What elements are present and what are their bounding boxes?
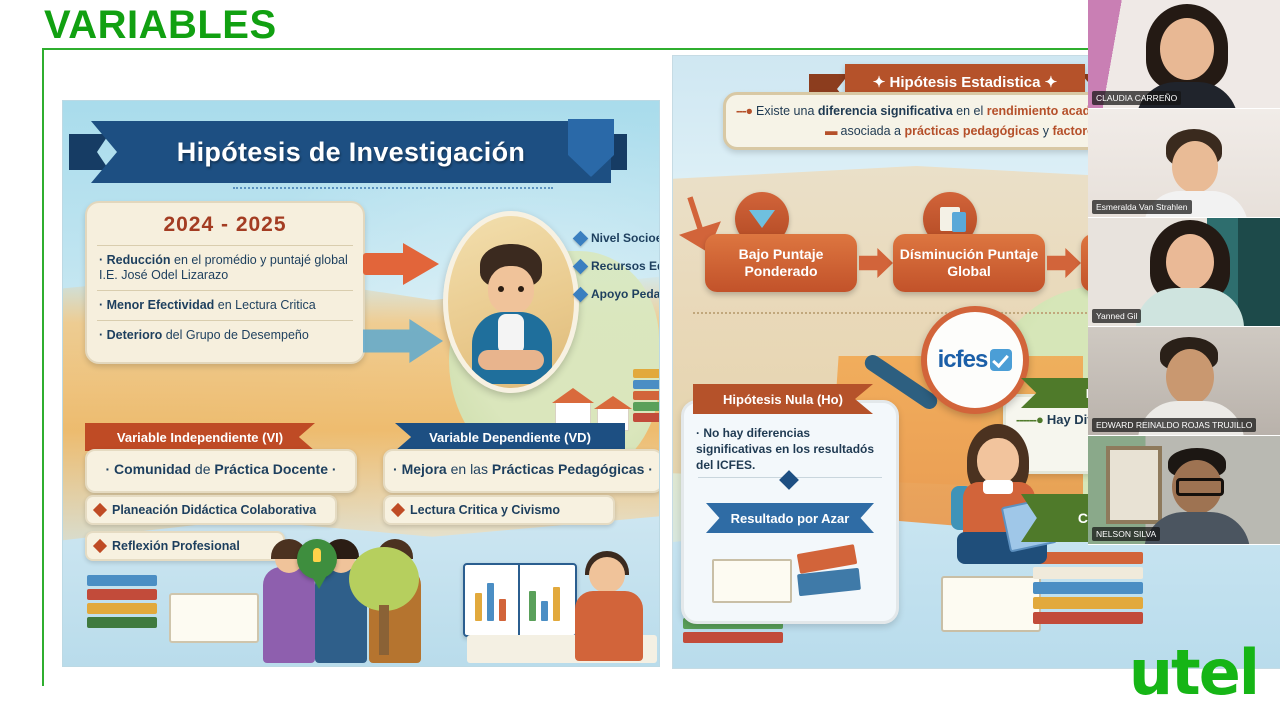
video-participants-panel[interactable]: CLAUDIA CARREÑO Esmeralda Van Strahlen Y…	[1088, 0, 1280, 540]
finding-item-3: · Deterioro del Grupo de Desempeño	[97, 320, 353, 350]
left-banner-title: Hipótesis de Investigación	[177, 137, 525, 168]
vi-item-1: Planeación Didáctica Colaborativa	[85, 495, 337, 525]
vd-title-panel: · Mejora en las Prácticas Pedagógicas ·	[383, 449, 660, 493]
left-banner: Hipótesis de Investigación	[91, 121, 611, 183]
participant-tile[interactable]: EDWARD REINALDO ROJAS TRUJILLO	[1088, 327, 1280, 436]
slide-frame-left-border	[42, 48, 44, 686]
factor-item: Apoyo Pedagógico	[575, 287, 660, 301]
participant-tile[interactable]: CLAUDIA CARREÑO	[1088, 0, 1280, 109]
participant-name: Esmeralda Van Strahlen	[1092, 200, 1192, 214]
participant-name: Yanned Gil	[1092, 309, 1141, 323]
diamond-bullet-icon	[573, 231, 589, 247]
variable-independiente-tag: Variable Independiente (VI)	[85, 423, 315, 451]
left-factors-list: Nivel Socioeconómico Recursos Educativos…	[575, 231, 660, 315]
open-book-chart-illustration	[463, 563, 577, 637]
open-book-illustration	[169, 593, 259, 643]
factor-item: Recursos Educativos	[575, 259, 660, 273]
utel-logo: utel	[1129, 642, 1258, 704]
glasses-icon	[1176, 478, 1224, 496]
diamond-bullet-icon	[573, 287, 589, 303]
factor-item: Nivel Socioeconómico	[575, 231, 660, 245]
icfes-badge: icfes	[921, 306, 1029, 414]
variable-dependiente-tag: Variable Dependiente (VD)	[395, 423, 625, 451]
page-title: VARIABLES	[44, 2, 277, 48]
left-banner-tail-left	[69, 134, 109, 170]
finding-item-1: · Reducción en el promédio y puntajé glo…	[97, 245, 353, 290]
diamond-arrow-icon	[779, 470, 799, 490]
books-illustration	[712, 543, 868, 605]
tree-illustration	[349, 547, 419, 657]
flow-step-2: Dísminución Puntaje Global	[893, 234, 1045, 292]
vi-item-2: Reflexión Profesional	[85, 531, 285, 561]
null-hypothesis-tag: Hipótesis Nula (Ho)	[693, 384, 873, 414]
left-infographic-image: Hipótesis de Investigación 2024 - 2025 ·…	[62, 100, 660, 667]
lightbulb-pointer	[311, 575, 327, 589]
participant-tile[interactable]: Esmeralda Van Strahlen	[1088, 109, 1280, 218]
left-banner-underline	[233, 187, 553, 189]
diamond-bullet-icon	[93, 503, 107, 517]
book-stack-icon	[633, 369, 660, 431]
participant-name: EDWARD REINALDO ROJAS TRUJILLO	[1092, 418, 1256, 432]
null-hypothesis-card: · No hay diferencias significativas en l…	[681, 400, 899, 624]
participant-tile[interactable]: NELSON SILVA	[1088, 436, 1280, 545]
left-findings-card: 2024 - 2025 · Reducción en el promédio y…	[85, 201, 365, 364]
vd-item-1: Lectura Critica y Civismo	[383, 495, 615, 525]
student-writing-illustration	[569, 557, 649, 662]
book-stack-icon	[87, 575, 157, 637]
open-book-illustration	[941, 576, 1041, 632]
orange-arrow-icon	[363, 243, 439, 285]
participant-tile[interactable]: Yanned Gil	[1088, 218, 1280, 327]
participant-name: NELSON SILVA	[1092, 527, 1160, 541]
vi-title-panel: · Comunidad de Práctica Docente ·	[85, 449, 357, 493]
check-icon	[990, 349, 1012, 371]
flow-step-1: Bajo Puntaje Ponderado	[705, 234, 857, 292]
finding-item-2: · Menor Efectividad en Lectura Critica	[97, 290, 353, 320]
student-boy-illustration	[443, 211, 579, 393]
diamond-bullet-icon	[391, 503, 405, 517]
lightbulb-icon	[297, 539, 337, 579]
ho-result-badge: Resultado por Azar	[706, 503, 874, 533]
diamond-bullet-icon	[573, 259, 589, 275]
participant-name: CLAUDIA CARREÑO	[1092, 91, 1181, 105]
years-label: 2024 - 2025	[97, 213, 353, 237]
diamond-bullet-icon	[93, 539, 107, 553]
